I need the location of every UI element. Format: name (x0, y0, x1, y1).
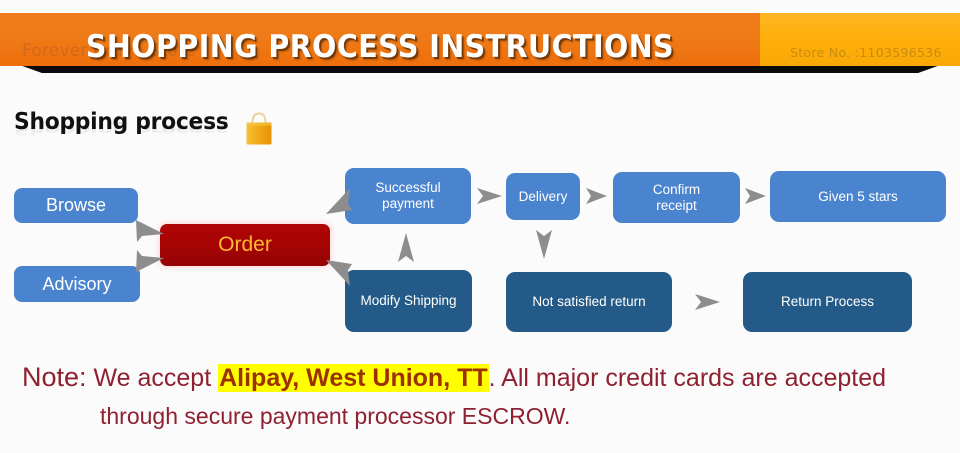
note-text-part1: We accept (94, 364, 219, 392)
note-label: Note: (22, 362, 87, 392)
flow-node-browse-label: Browse (46, 195, 106, 216)
flow-node-delivery[interactable]: Delivery (506, 173, 580, 220)
shopping-bag-icon (243, 110, 275, 147)
flow-node-confirm-receipt-label-line2: receipt (656, 198, 697, 214)
flow-node-not-satisfied-return[interactable]: Not satisfied return (506, 272, 672, 332)
flow-node-not-satisfied-return-label: Not satisfied return (532, 294, 645, 310)
flow-node-confirm-receipt-label-line1: Confirm (653, 182, 700, 198)
flow-node-order-label: Order (218, 233, 272, 257)
arrow-advisory-to-order (134, 248, 168, 274)
note-line-1: Note: We accept Alipay, West Union, TT. … (22, 360, 886, 395)
flow-node-advisory-label: Advisory (42, 274, 111, 295)
arrow-not-satisfied-return-to-return-process (694, 292, 722, 312)
arrow-delivery-to-confirm-receipt (585, 186, 609, 206)
arrow-delivery-to-not-satisfied-return (534, 228, 554, 260)
arrow-order-to-modify-shipping (322, 258, 354, 290)
flow-node-return-process-label: Return Process (781, 294, 874, 310)
arrow-browse-to-order (134, 218, 168, 244)
note-highlight-payment-methods: Alipay, West Union, TT (218, 364, 489, 392)
section-heading-reflection: Shopping process (14, 121, 229, 138)
flow-node-confirm-receipt[interactable]: Confirm receipt (613, 172, 740, 223)
flow-node-modify-shipping-label: Modify Shipping (360, 293, 456, 309)
page-title: SHOPPING PROCESS INSTRUCTIONS (30, 32, 729, 63)
flow-node-modify-shipping[interactable]: Modify Shipping (345, 270, 472, 332)
flow-node-successful-payment-label-line2: payment (382, 196, 434, 212)
flow-node-successful-payment[interactable]: Successful payment (345, 168, 471, 224)
flow-node-return-process[interactable]: Return Process (743, 272, 912, 332)
flow-node-order[interactable]: Order (160, 224, 330, 266)
arrow-successful-payment-to-delivery (476, 186, 504, 206)
flow-node-successful-payment-label-line1: Successful (375, 180, 440, 196)
note-text-part2: . All major credit cards are accepted (489, 364, 886, 392)
flow-node-delivery-label: Delivery (519, 189, 568, 205)
flow-node-given-5-stars[interactable]: Given 5 stars (770, 171, 946, 222)
note-line-2: through secure payment processor ESCROW. (100, 400, 570, 432)
flow-node-advisory[interactable]: Advisory (14, 266, 140, 302)
arrow-order-to-successful-payment (322, 184, 354, 216)
arrow-modify-shipping-to-successful-payment (396, 232, 416, 264)
flow-node-browse[interactable]: Browse (14, 188, 138, 223)
flow-node-given-5-stars-label: Given 5 stars (818, 189, 898, 205)
store-number: Store No. :1103596536 (790, 45, 942, 60)
header-banner: Forever Brave Store SHOPPING PROCESS INS… (0, 13, 960, 73)
arrow-confirm-receipt-to-given-5-stars (744, 186, 768, 206)
